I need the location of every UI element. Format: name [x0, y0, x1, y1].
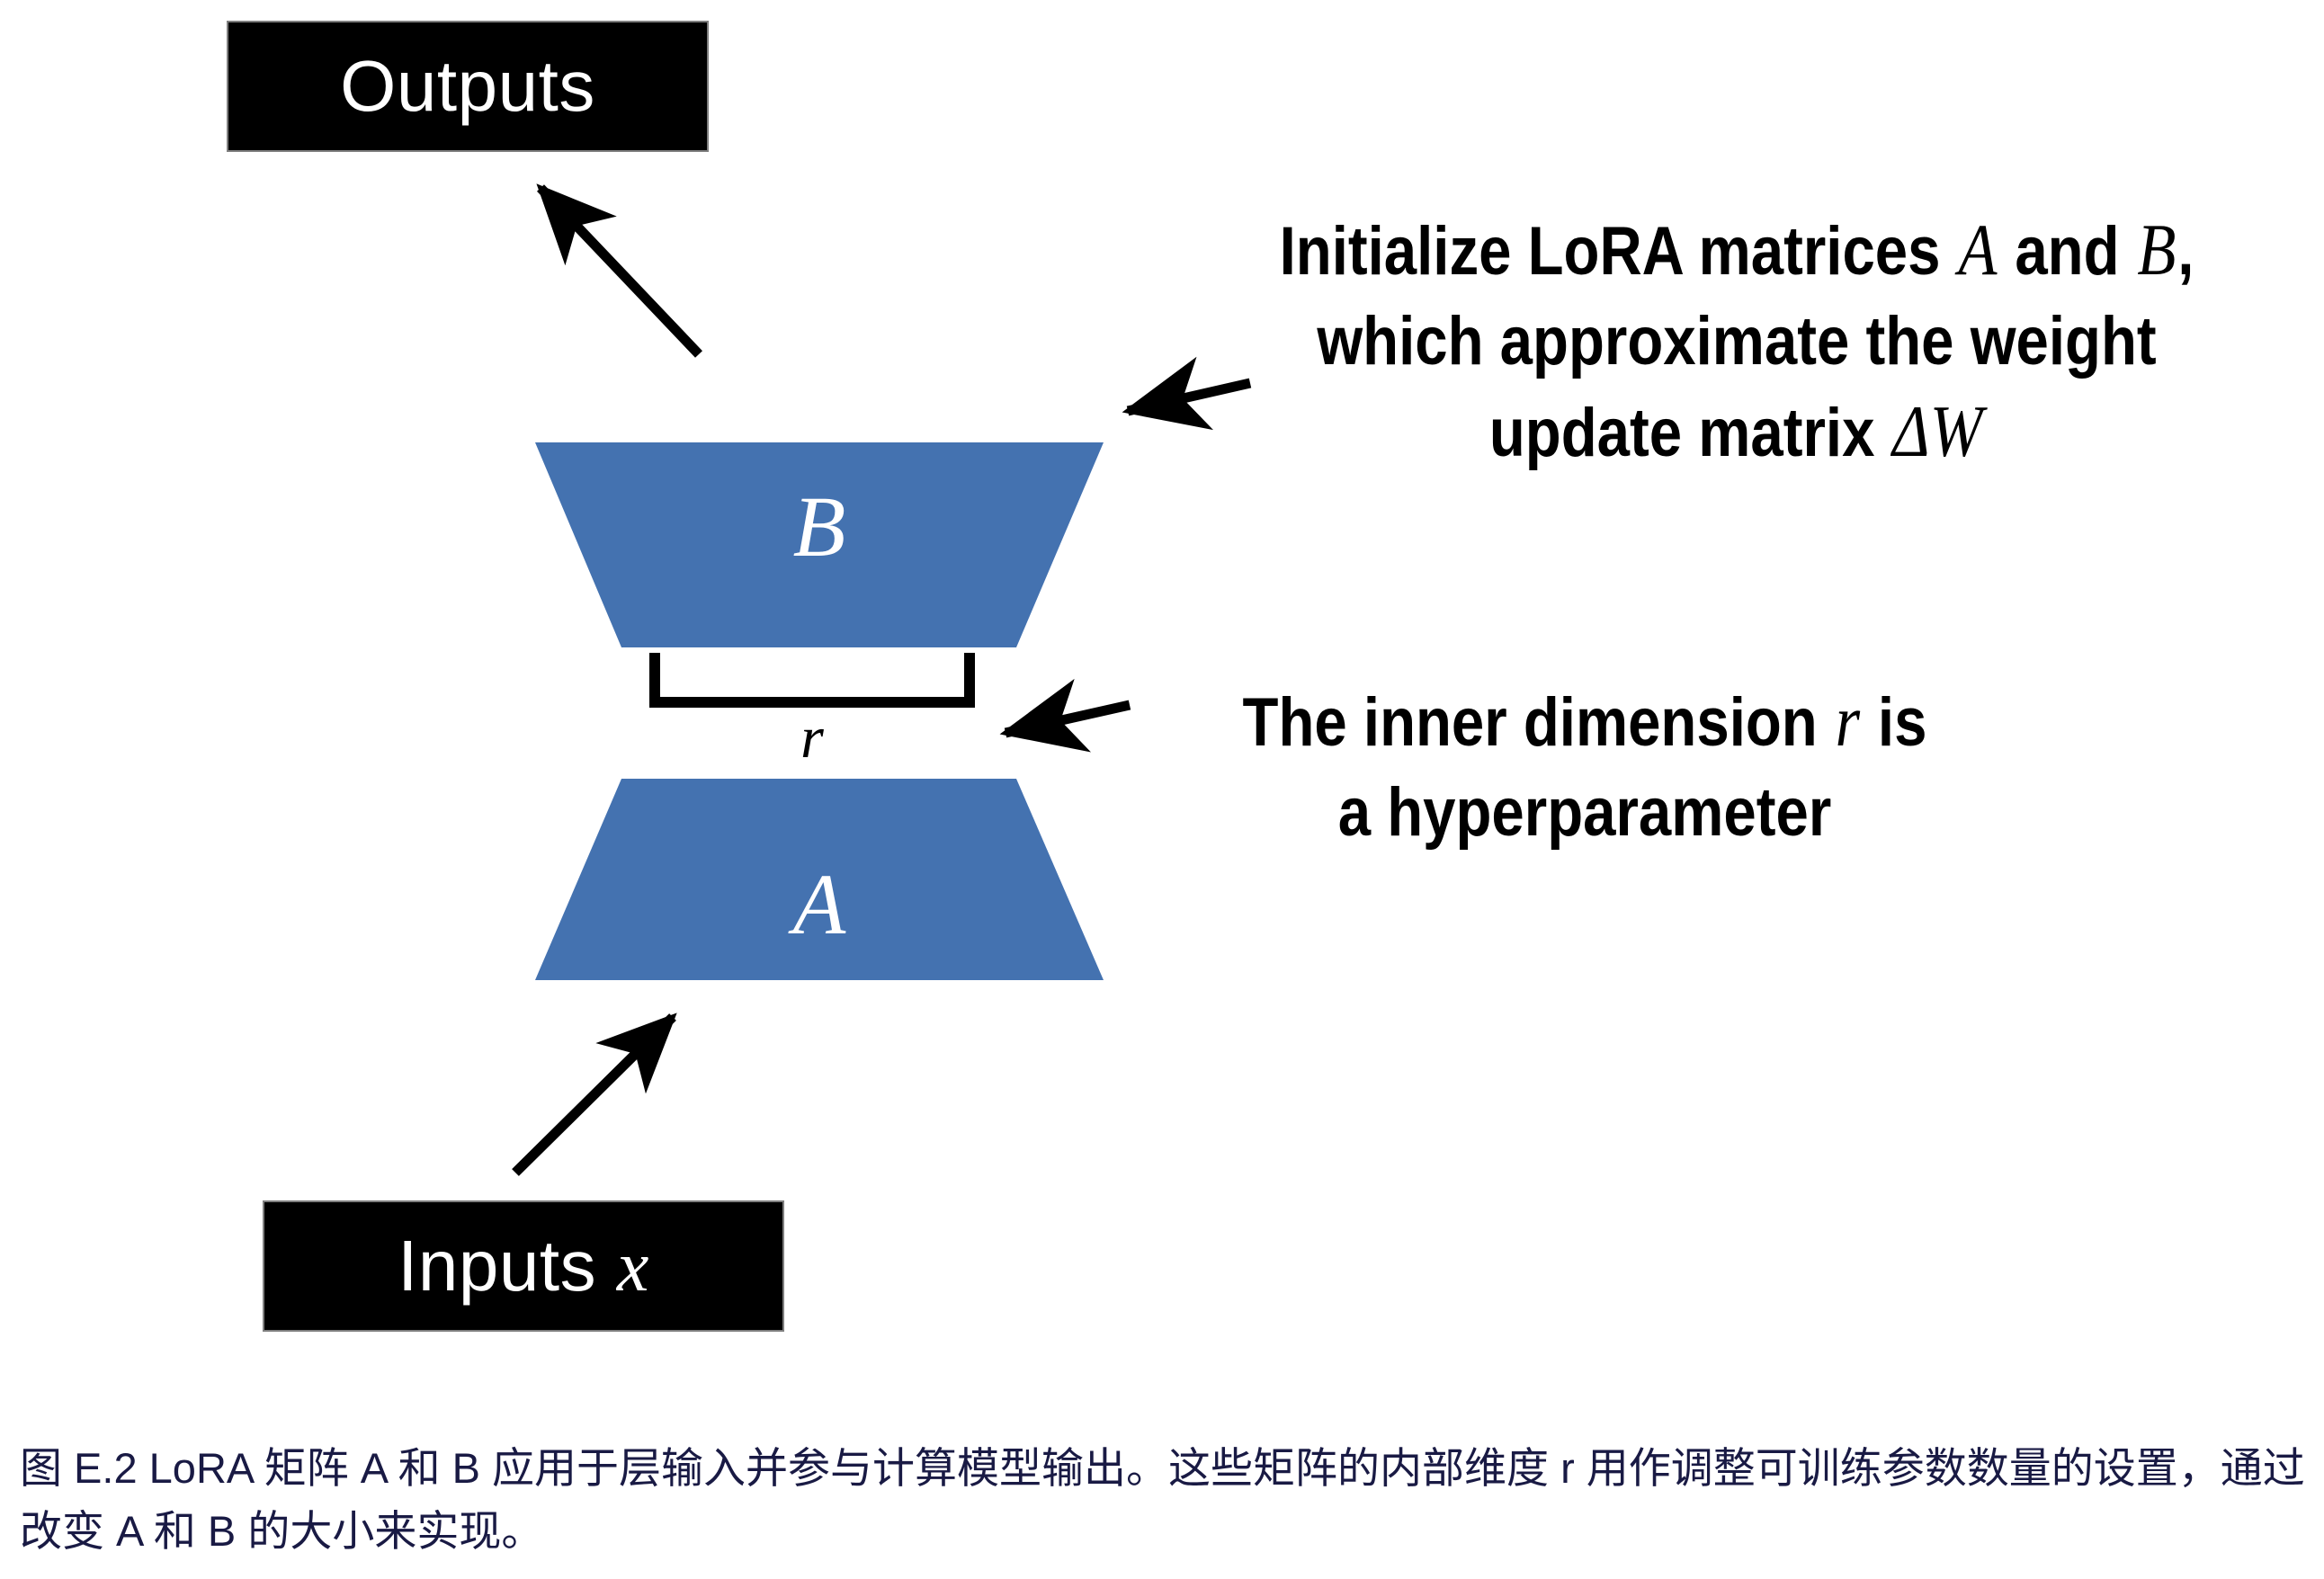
figure-caption: 图 E.2 LoRA 矩阵 A 和 B 应用于层输入并参与计算模型输出。这些矩阵…	[20, 1437, 2309, 1562]
annotation-matrices-line1-pre: Initialize LoRA matrices	[1280, 213, 1957, 290]
arrow-b-to-outputs	[541, 188, 699, 354]
inputs-label-text: Inputs	[398, 1226, 596, 1306]
arrow-inputs-to-a	[515, 1017, 673, 1173]
annotation-rank-line-2: a hyperparameter	[1206, 769, 1964, 856]
annotation-matrices-line-1: Initialize LoRA matrices A and B,	[1276, 203, 2196, 298]
matrix-b-polygon	[535, 442, 1104, 647]
annotation-rank-math-r: r	[1834, 680, 1862, 762]
inputs-label: Inputs x	[398, 1230, 649, 1303]
arrow-callout-matrices	[1128, 383, 1250, 411]
inputs-box: Inputs x	[263, 1200, 784, 1332]
annotation-matrices-line-2: which approximate the weight	[1276, 298, 2196, 385]
outputs-label: Outputs	[340, 50, 595, 122]
lora-figure: Outputs B r A Inputs x	[0, 0, 2324, 1403]
annotation-matrices: Initialize LoRA matrices A and B, which …	[1276, 203, 2196, 479]
inputs-label-math: x	[617, 1227, 649, 1307]
arrow-callout-rank	[1006, 705, 1130, 733]
rank-label: r	[649, 709, 975, 768]
matrix-b-shape: B	[535, 442, 1104, 647]
annotation-rank-line-1: The inner dimension r is	[1206, 674, 1964, 769]
annotation-matrices-line1-mid: and	[1998, 213, 2136, 290]
annotation-matrices-math-dw: ΔW	[1891, 390, 1985, 472]
matrix-b-trapezoid-svg	[535, 442, 1104, 647]
rank-bracket-path	[655, 653, 970, 702]
annotation-matrices-math-a: A	[1957, 209, 1999, 290]
annotation-matrices-line3-pre: update matrix	[1489, 395, 1891, 471]
matrix-a-shape: A	[535, 779, 1104, 980]
rank-bracket-svg	[649, 653, 975, 709]
annotation-matrices-math-b: B	[2136, 209, 2178, 290]
annotation-matrices-line-3: update matrix ΔW	[1276, 385, 2196, 479]
annotation-rank-line1-post: is	[1862, 684, 1927, 761]
matrix-a-polygon	[535, 779, 1104, 980]
annotation-rank: The inner dimension r is a hyperparamete…	[1206, 674, 1964, 856]
annotation-rank-line1-pre: The inner dimension	[1243, 684, 1834, 761]
matrix-a-trapezoid-svg	[535, 779, 1104, 980]
annotation-matrices-line1-post: ,	[2177, 213, 2194, 290]
rank-bracket	[649, 653, 975, 709]
outputs-box: Outputs	[227, 21, 709, 152]
